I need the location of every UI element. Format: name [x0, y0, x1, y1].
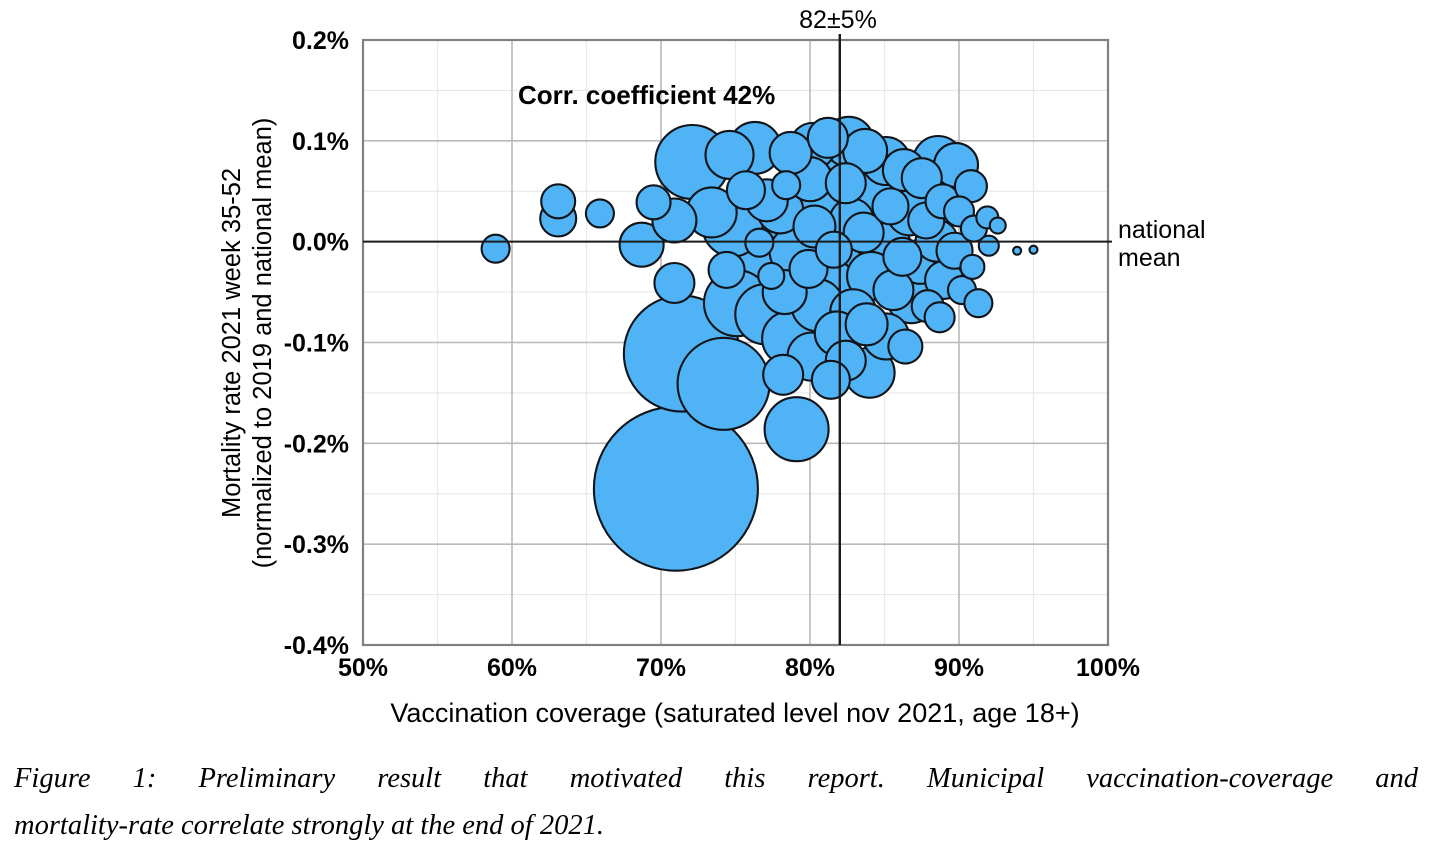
data-bubble	[990, 218, 1006, 234]
x-axis-title: Vaccination coverage (saturated level no…	[390, 698, 1079, 728]
x-axis-tick-labels: 50%60%70%80%90%100%	[338, 654, 1140, 682]
data-bubble	[654, 263, 694, 303]
national-mean-label-line2: mean	[1118, 244, 1181, 272]
x-tick-label: 70%	[636, 654, 686, 682]
x-tick-label: 80%	[785, 654, 835, 682]
data-bubble	[826, 163, 866, 203]
figure-container: 50%60%70%80%90%100%0.2%0.1%0.0%-0.1%-0.2…	[0, 0, 1432, 856]
y-tick-label: -0.3%	[284, 531, 349, 559]
data-bubble	[1013, 247, 1021, 255]
y-axis-title-line2: (normalized to 2019 and national mean)	[249, 118, 277, 569]
data-bubble	[883, 238, 921, 276]
data-bubble	[727, 171, 765, 209]
data-bubble	[482, 235, 510, 263]
national-mean-label-line1: national	[1118, 216, 1206, 244]
data-bubble	[765, 397, 829, 461]
data-bubble	[1030, 246, 1038, 254]
figure-caption: Figure 1: Preliminary result that motiva…	[14, 755, 1418, 849]
y-tick-label: -0.2%	[284, 430, 349, 458]
data-bubble	[925, 302, 955, 332]
data-bubble	[772, 171, 800, 199]
y-tick-label: 0.0%	[292, 229, 349, 257]
data-bubble	[745, 229, 773, 257]
data-bubble	[979, 236, 999, 256]
data-bubble	[678, 338, 770, 430]
data-bubble	[709, 252, 745, 288]
y-tick-label: 0.1%	[292, 128, 349, 156]
caption-line-1: Figure 1: Preliminary result that motiva…	[14, 755, 1418, 802]
bubble-chart: 50%60%70%80%90%100%0.2%0.1%0.0%-0.1%-0.2…	[0, 0, 1432, 745]
data-bubble	[960, 255, 984, 279]
data-bubble	[594, 407, 758, 571]
data-bubble	[816, 232, 852, 268]
data-bubble	[637, 185, 671, 219]
x-tick-label: 100%	[1076, 654, 1140, 682]
data-bubble	[763, 355, 803, 395]
data-bubble	[758, 263, 784, 289]
y-tick-label: 0.2%	[292, 27, 349, 55]
data-bubble	[808, 118, 848, 158]
y-tick-label: -0.1%	[284, 330, 349, 358]
data-bubble	[541, 184, 575, 218]
data-bubble	[888, 330, 922, 364]
data-bubble	[872, 188, 908, 224]
x-tick-label: 90%	[934, 654, 984, 682]
x-tick-label: 60%	[487, 654, 537, 682]
data-bubble	[812, 361, 850, 399]
data-bubble	[586, 199, 614, 227]
correlation-coefficient-label: Corr. coefficient 42%	[518, 80, 775, 110]
data-bubble	[846, 303, 888, 345]
threshold-annotation-label: 82±5%	[799, 6, 877, 34]
data-bubble	[770, 132, 812, 174]
data-bubble	[964, 289, 992, 317]
y-axis-title-line1: Mortality rate 2021 week 35-52	[218, 168, 246, 518]
chart-svg: 50%60%70%80%90%100%0.2%0.1%0.0%-0.1%-0.2…	[0, 0, 1432, 745]
y-axis-tick-labels: 0.2%0.1%0.0%-0.1%-0.2%-0.3%-0.4%	[284, 27, 349, 660]
caption-line-2: mortality-rate correlate strongly at the…	[14, 802, 1418, 849]
y-tick-label: -0.4%	[284, 632, 349, 660]
